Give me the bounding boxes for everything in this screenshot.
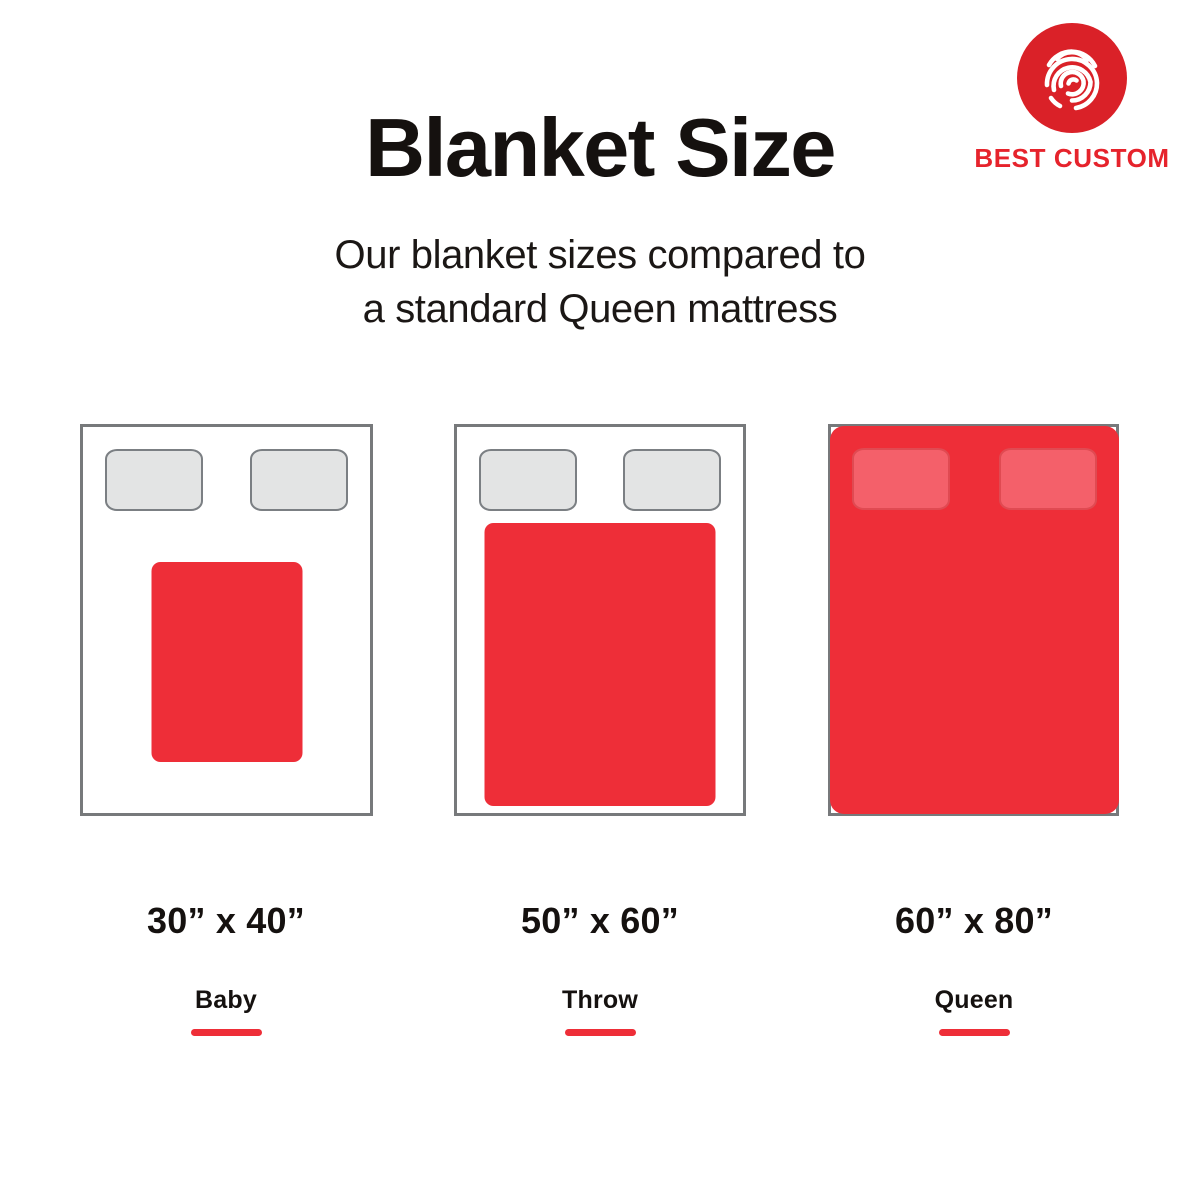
- label-group-queen: 60” x 80” Queen: [794, 900, 1154, 1036]
- pillow-left-icon: [852, 448, 950, 510]
- pillow-left-icon: [479, 449, 577, 511]
- size-name: Baby: [46, 986, 406, 1015]
- accent-underline: [939, 1029, 1010, 1036]
- bed-comparison-row: [0, 424, 1200, 816]
- dimension-text: 30” x 40”: [46, 900, 406, 942]
- infographic-canvas: BEST CUSTOM Blanket Size Our blanket siz…: [0, 0, 1200, 1200]
- label-group-throw: 50” x 60” Throw: [420, 900, 780, 1036]
- accent-underline: [565, 1029, 636, 1036]
- bed-labels-row: 30” x 40” Baby 50” x 60” Throw 60” x 80”…: [0, 900, 1200, 1040]
- pillow-right-icon: [623, 449, 721, 511]
- pillow-right-icon: [999, 448, 1097, 510]
- size-name: Queen: [794, 986, 1154, 1015]
- subtitle-line-2: a standard Queen mattress: [0, 282, 1200, 336]
- page-subtitle: Our blanket sizes compared to a standard…: [0, 228, 1200, 337]
- size-name: Throw: [420, 986, 780, 1015]
- page-title: Blanket Size: [0, 104, 1200, 191]
- blanket-throw: [485, 523, 716, 806]
- blanket-baby: [151, 562, 302, 762]
- mattress-queen: [831, 427, 1116, 813]
- blanket-queen: [830, 426, 1119, 814]
- mattress-baby: [83, 427, 370, 813]
- pillow-left-icon: [105, 449, 203, 511]
- subtitle-line-1: Our blanket sizes compared to: [0, 228, 1200, 282]
- label-group-baby: 30” x 40” Baby: [46, 900, 406, 1036]
- dimension-text: 50” x 60”: [420, 900, 780, 942]
- pillow-right-icon: [250, 449, 348, 511]
- dimension-text: 60” x 80”: [794, 900, 1154, 942]
- bed-diagram-queen: [828, 424, 1119, 816]
- bed-diagram-throw: [454, 424, 746, 816]
- accent-underline: [191, 1029, 262, 1036]
- mattress-throw: [457, 427, 743, 813]
- bed-diagram-baby: [80, 424, 373, 816]
